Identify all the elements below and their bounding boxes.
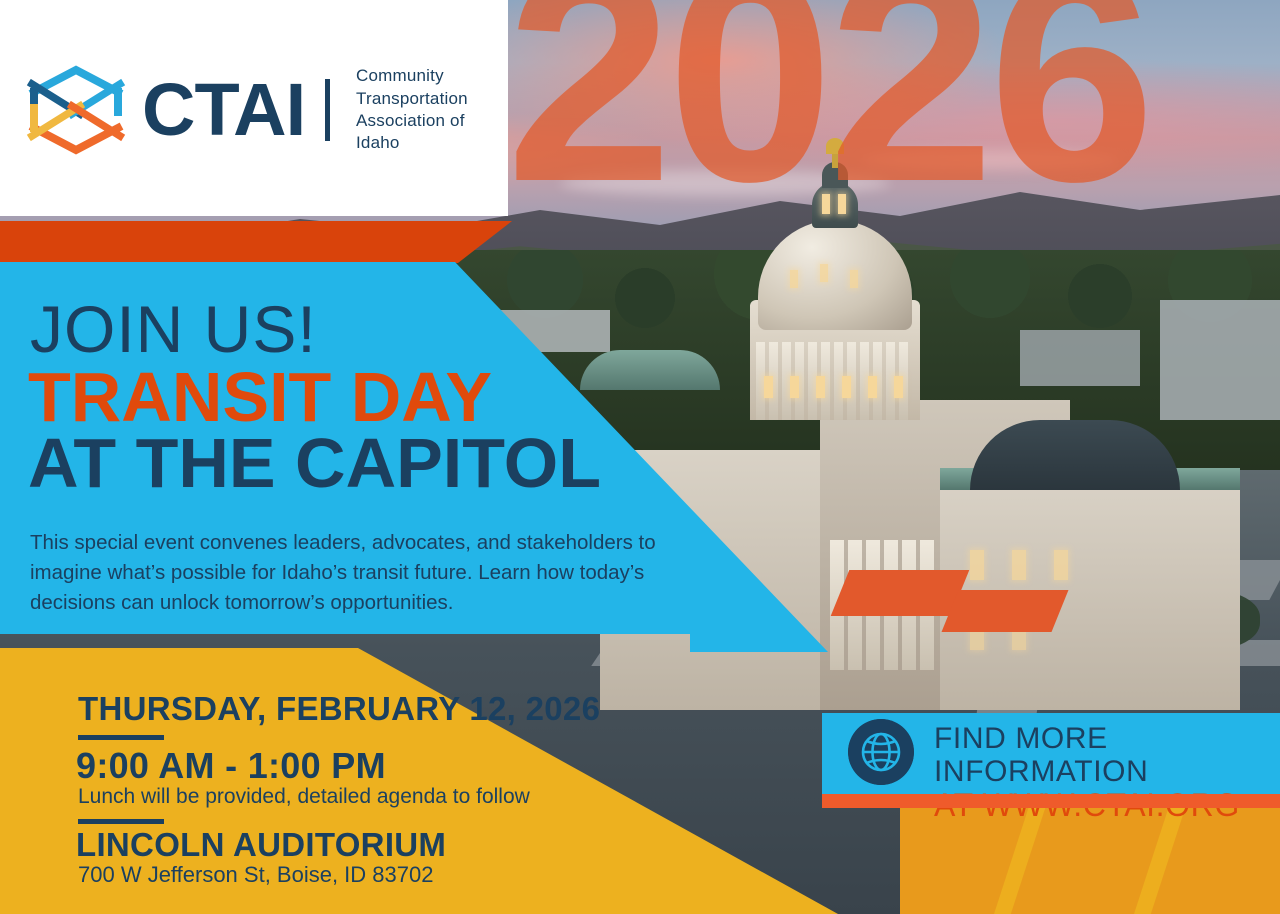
logo-panel: CTAI Community Transportation Associatio… bbox=[0, 0, 508, 216]
ctai-logo: CTAI Community Transportation Associatio… bbox=[24, 62, 508, 158]
plaza-awning bbox=[831, 570, 970, 616]
body-copy: This special event convenes leaders, adv… bbox=[30, 528, 695, 618]
cta-text: FIND MORE INFORMATION AT WWW.CTAI.ORG bbox=[934, 722, 1280, 823]
logo-subtitle-line-1: Community bbox=[356, 65, 508, 87]
hexagon-ribbon-logo-icon bbox=[24, 62, 128, 158]
headline-line-3: AT THE CAPITOL bbox=[28, 428, 601, 498]
logo-divider bbox=[325, 79, 330, 141]
cta-line-1: FIND MORE INFORMATION bbox=[934, 722, 1280, 788]
plaza-awning bbox=[942, 590, 1069, 632]
divider-rule bbox=[78, 819, 164, 824]
divider-rule bbox=[78, 735, 164, 740]
event-date: THURSDAY, FEBRUARY 12, 2026 bbox=[78, 692, 600, 725]
logo-subtitle: Community Transportation Association of … bbox=[356, 65, 508, 155]
logo-subtitle-line-2: Transportation bbox=[356, 88, 508, 110]
logo-wordmark: CTAI bbox=[142, 77, 305, 144]
year-watermark: 2026 bbox=[506, 0, 1149, 226]
event-venue: LINCOLN AUDITORIUM bbox=[76, 828, 446, 861]
headline-line-2: TRANSIT DAY bbox=[28, 362, 492, 432]
orange-accent-band bbox=[0, 221, 512, 263]
event-note: Lunch will be provided, detailed agenda … bbox=[78, 786, 530, 807]
headline-line-1: JOIN US! bbox=[30, 296, 317, 362]
logo-subtitle-line-3: Association of Idaho bbox=[356, 110, 508, 155]
event-flyer: 2026 CTAI C bbox=[0, 0, 1280, 914]
globe-icon bbox=[848, 719, 914, 785]
event-time: 9:00 AM - 1:00 PM bbox=[76, 748, 386, 784]
event-address: 700 W Jefferson St, Boise, ID 83702 bbox=[78, 864, 433, 886]
cta-orange-bar bbox=[822, 794, 1280, 808]
